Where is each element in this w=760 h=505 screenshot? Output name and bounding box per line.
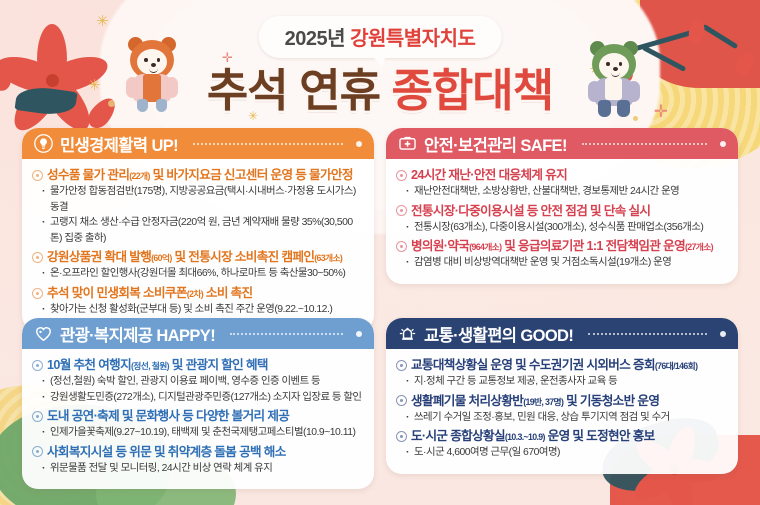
item-title-note: (964개소) — [469, 242, 501, 252]
sub-item: 재난안전대책반, 소방상황반, 산불대책반, 경보통제반 24시간 운영 — [396, 184, 726, 200]
card-traffic-body: 교통대책상황실 운영 및 수도권기권 시외버스 증회(76대/146회) 지·정… — [386, 349, 738, 474]
header-end-dot — [720, 331, 726, 337]
traffic-light-icon — [398, 324, 417, 343]
card-tourism-body: 10월 추천 여행지(정선, 철원) 및 관광지 할인 혜택 (정선,철원) 숙… — [22, 349, 374, 489]
list-item: 생활폐기물 처리상황반(19반, 37명) 및 기동청소반 운영 쓰레기 수거일… — [396, 393, 726, 426]
flower-bullet-icon — [32, 411, 43, 422]
sub-item: 찾아가는 신청 활성화(군부대 등) 및 소비 촉진 주간 운영(9.22.~1… — [32, 302, 362, 318]
list-item: 도·시군 종합상황실(10.3.~10.9) 운영 및 도정현안 홍보 도·시군… — [396, 428, 726, 461]
flower-bullet-icon — [396, 170, 407, 181]
sub-item: 위문물품 전달 및 모니터링, 24시간 비상 연락 체계 유지 — [32, 461, 362, 477]
flower-bullet-icon — [396, 395, 407, 406]
list-item: 병의원·약국(964개소) 및 응급의료기관 1:1 전담책임관 운영(27개소… — [396, 238, 726, 271]
item-title-note: (정선, 철원) — [131, 361, 169, 371]
item-title: 사회복지시설 등 위문 및 취약계층 돌봄 공백 해소 — [32, 444, 362, 461]
header-dotted-line — [230, 333, 343, 335]
sub-item: 전통시장(63개소), 다중이용시설(300개소), 성수식품 판매업소(356… — [396, 220, 726, 236]
header-end-dot — [356, 141, 362, 147]
sub-item: 도·시군 4,600여명 근무(일 670여명) — [396, 445, 726, 461]
item-title: 병의원·약국(964개소) 및 응급의료기관 1:1 전담책임관 운영(27개소… — [396, 238, 726, 255]
item-title-main2: 소비 촉진 — [203, 286, 252, 300]
main-title-part1: 추석 연휴 — [207, 65, 392, 116]
card-traffic-header: 교통·생활편의 GOOD! — [386, 318, 738, 349]
item-title: 추석 맞이 민생회복 소비쿠폰(2차) 소비 촉진 — [32, 285, 362, 302]
item-title-main2: 및 바가지요금 신고센터 운영 등 물가안정 — [150, 168, 353, 182]
list-item: 성수품 물가 관리(22개) 및 바가지요금 신고센터 운영 등 물가안정 물가… — [32, 167, 362, 246]
item-title: 전통시장·다중이용시설 등 안전 점검 및 단속 실시 — [396, 203, 726, 220]
card-tourism-header: 관광·복지제공 HAPPY! — [22, 318, 374, 349]
item-title-main2: 및 관광지 할인 혜택 — [169, 358, 268, 372]
flower-bullet-icon — [32, 446, 43, 457]
item-title-main2: 및 전통시장 소비촉진 캠페인 — [172, 250, 315, 264]
flower-bullet-icon — [32, 170, 43, 181]
item-title-main: 강원상품권 확대 발행 — [47, 250, 151, 264]
item-title: 생활폐기물 처리상황반(19반, 37명) 및 기동청소반 운영 — [396, 393, 726, 410]
sub-item: (정선,철원) 숙박 할인, 관광지 이용료 페이백, 영수증 인증 이벤트 등 — [32, 374, 362, 390]
item-title-main: 도내 공연·축제 및 문화행사 등 다양한 볼거리 제공 — [47, 408, 289, 425]
header-dotted-line — [588, 333, 707, 335]
sub-item: 물가안정 합동점검반(175명), 지방공공요금(택시·시내버스·가정용 도시가… — [32, 184, 362, 215]
main-title-part2: 종합대책 — [392, 65, 554, 116]
item-title-main: 성수품 물가 관리 — [47, 168, 129, 182]
orange-bear-mascot — [124, 40, 180, 114]
medical-kit-icon — [398, 134, 417, 153]
item-title-note: (19반, 37명) — [523, 397, 563, 407]
item-title: 교통대책상황실 운영 및 수도권기권 시외버스 증회(76대/146회) — [396, 357, 726, 374]
item-title-main: 병의원·약국 — [411, 239, 469, 253]
card-tourism-title: 관광·복지제공 HAPPY! — [60, 322, 215, 346]
subtitle-region: 강원특별자치도 — [350, 28, 475, 50]
item-title: 도·시군 종합상황실(10.3.~10.9) 운영 및 도정현안 홍보 — [396, 428, 726, 445]
item-title-main: 생활폐기물 처리상황반 — [411, 394, 523, 408]
card-economy: 민생경제활력 UP! 성수품 물가 관리(22개) 및 바가지요금 신고센터 운… — [22, 128, 374, 331]
sub-item: 쓰레기 수거일 조정·홍보, 민원 대응, 상습 투기지역 점검 및 수거 — [396, 410, 726, 426]
lightbulb-icon — [34, 134, 53, 153]
list-item: 교통대책상황실 운영 및 수도권기권 시외버스 증회(76대/146회) 지·정… — [396, 357, 726, 390]
sub-item: 강원생활도민증(272개소), 디지털관광주민증(127개소) 소지자 입장료 … — [32, 390, 362, 406]
list-item: 사회복지시설 등 위문 및 취약계층 돌봄 공백 해소 위문물품 전달 및 모니… — [32, 444, 362, 477]
subtitle-year: 2025년 — [285, 28, 350, 50]
item-title-main: 도·시군 종합상황실 — [411, 429, 505, 443]
flower-bullet-icon — [396, 360, 407, 371]
item-title-main: 사회복지시설 등 위문 및 취약계층 돌봄 공백 해소 — [47, 444, 286, 461]
item-title-note2: (27개소) — [685, 242, 713, 252]
card-traffic: 교통·생활편의 GOOD! 교통대책상황실 운영 및 수도권기권 시외버스 증회… — [386, 318, 738, 474]
sub-item: 감염병 대비 비상방역대책반 운영 및 거점소독시설(19개소) 운영 — [396, 255, 726, 271]
card-tourism: 관광·복지제공 HAPPY! 10월 추천 여행지(정선, 철원) 및 관광지 … — [22, 318, 374, 489]
card-safety-header: 안전·보건관리 SAFE! — [386, 128, 738, 159]
item-title-main: 24시간 재난·안전 대응체계 유지 — [411, 167, 567, 184]
item-title-main: 추석 맞이 민생회복 소비쿠폰 — [47, 286, 187, 300]
green-bear-mascot — [586, 44, 642, 118]
header-end-dot — [720, 141, 726, 147]
list-item: 강원상품권 확대 발행(60억) 및 전통시장 소비촉진 캠페인(63개소) 온… — [32, 249, 362, 282]
list-item: 추석 맞이 민생회복 소비쿠폰(2차) 소비 촉진 찾아가는 신청 활성화(군부… — [32, 285, 362, 318]
item-title: 도내 공연·축제 및 문화행사 등 다양한 볼거리 제공 — [32, 408, 362, 425]
list-item: 24시간 재난·안전 대응체계 유지 재난안전대책반, 소방상황반, 산불대책반… — [396, 167, 726, 200]
item-title-note2: (76대/146회) — [655, 361, 697, 371]
flower-bullet-icon — [396, 431, 407, 442]
flower-bullet-icon — [396, 241, 407, 252]
item-title-note2: (63개소) — [314, 253, 342, 263]
flower-bullet-icon — [32, 252, 43, 263]
header-dotted-line — [582, 143, 707, 145]
item-title: 강원상품권 확대 발행(60억) 및 전통시장 소비촉진 캠페인(63개소) — [32, 249, 362, 266]
item-title-main2: 및 기동청소반 운영 — [563, 394, 659, 408]
card-safety-title: 안전·보건관리 SAFE! — [424, 132, 567, 156]
header-dotted-line — [193, 143, 343, 145]
flower-bullet-icon — [32, 360, 43, 371]
flower-bullet-icon — [396, 205, 407, 216]
sub-item: 온·오프라인 할인행사(강원더몰 최대66%, 하나로마트 등 축산물30~50… — [32, 266, 362, 282]
list-item: 전통시장·다중이용시설 등 안전 점검 및 단속 실시 전통시장(63개소), … — [396, 203, 726, 236]
card-economy-body: 성수품 물가 관리(22개) 및 바가지요금 신고센터 운영 등 물가안정 물가… — [22, 159, 374, 331]
list-item: 도내 공연·축제 및 문화행사 등 다양한 볼거리 제공 인제가을꽃축제(9.2… — [32, 408, 362, 441]
card-economy-header: 민생경제활력 UP! — [22, 128, 374, 159]
item-title-note: (60억) — [151, 253, 172, 263]
item-title: 10월 추천 여행지(정선, 철원) 및 관광지 할인 혜택 — [32, 357, 362, 374]
list-item: 10월 추천 여행지(정선, 철원) 및 관광지 할인 혜택 (정선,철원) 숙… — [32, 357, 362, 405]
item-title-main2: 및 응급의료기관 1:1 전담책임관 운영 — [501, 239, 685, 253]
subtitle-pill: 2025년 강원특별자치도 — [259, 16, 502, 58]
subtitle-text: 2025년 강원특별자치도 — [285, 28, 476, 50]
item-title-main: 교통대책상황실 운영 및 수도권기권 시외버스 증회 — [411, 358, 655, 372]
card-safety: 안전·보건관리 SAFE! 24시간 재난·안전 대응체계 유지 재난안전대책반… — [386, 128, 738, 284]
card-economy-title: 민생경제활력 UP! — [60, 132, 178, 156]
item-title-note: (2차) — [187, 289, 203, 299]
item-title-note: (10.3.~10.9) — [505, 432, 545, 442]
item-title-main: 전통시장·다중이용시설 등 안전 점검 및 단속 실시 — [411, 203, 650, 220]
card-safety-body: 24시간 재난·안전 대응체계 유지 재난안전대책반, 소방상황반, 산불대책반… — [386, 159, 738, 284]
sub-item: 지·정체 구간 등 교통정보 제공, 운전종사자 교육 등 — [396, 374, 726, 390]
item-title-main2: 운영 및 도정현안 홍보 — [545, 429, 655, 443]
item-title-note: (22개) — [129, 171, 150, 181]
heart-hands-icon — [34, 324, 53, 343]
header-end-dot — [356, 331, 362, 337]
main-title: 추석 연휴 종합대책 — [207, 54, 553, 119]
item-title: 성수품 물가 관리(22개) 및 바가지요금 신고센터 운영 등 물가안정 — [32, 167, 362, 184]
sub-item: 인제가을꽃축제(9.27~10.19), 태백제 및 춘천국제탱고페스티벌(10… — [32, 425, 362, 441]
sub-item: 고랭지 채소 생산·수급 안정자금(220억 원, 금년 계약재배 물량 35%… — [32, 215, 362, 246]
poster-header: 2025년 강원특별자치도 추석 연휴 종합대책 추석 연휴 종합대책 — [0, 8, 760, 124]
card-traffic-title: 교통·생활편의 GOOD! — [424, 322, 573, 346]
item-title: 24시간 재난·안전 대응체계 유지 — [396, 167, 726, 184]
item-title-main: 10월 추천 여행지 — [47, 358, 131, 372]
flower-bullet-icon — [32, 288, 43, 299]
